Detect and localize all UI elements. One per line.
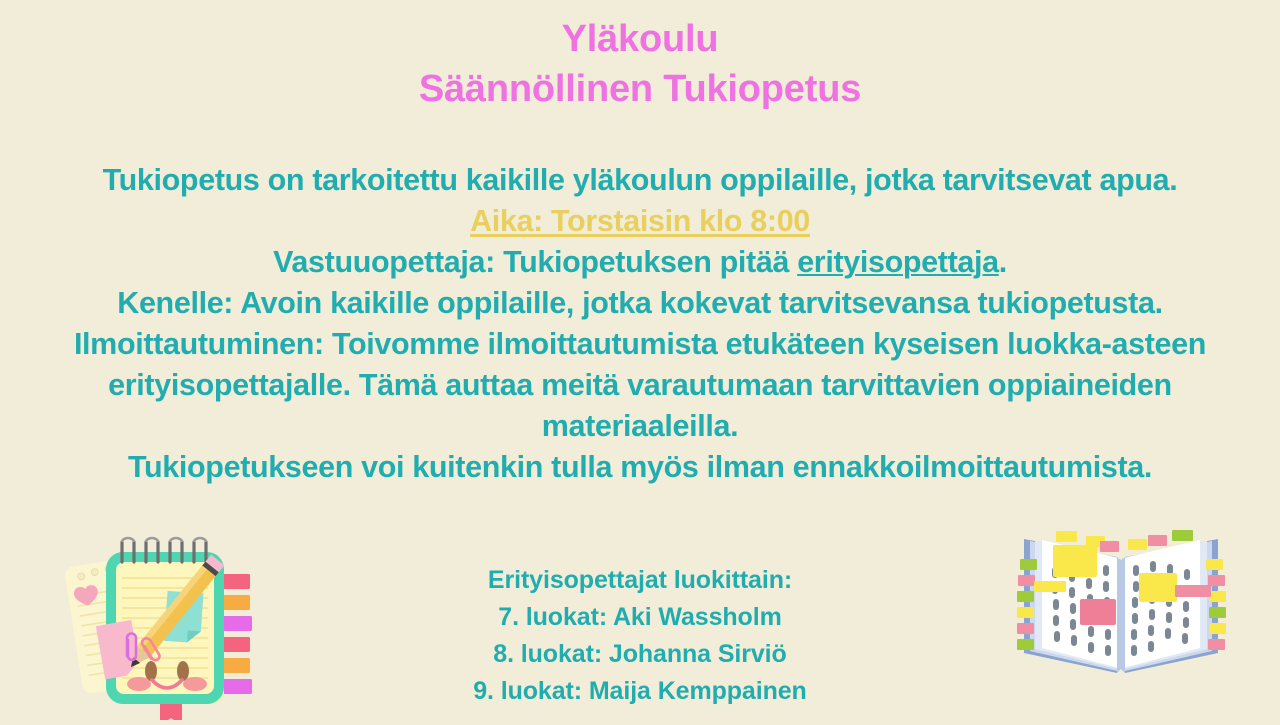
title-line-2: Säännöllinen Tukiopetus (0, 64, 1280, 114)
slide-body: Tukiopetus on tarkoitettu kaikille yläko… (0, 160, 1280, 488)
notebook-pencil-icon (62, 528, 274, 720)
slide-title: Yläkoulu Säännöllinen Tukiopetus (0, 14, 1280, 114)
body-intro-line: Tukiopetus on tarkoitettu kaikille yläko… (0, 160, 1280, 201)
slide-canvas: Yläkoulu Säännöllinen Tukiopetus Tukiope… (0, 0, 1280, 720)
body-audience-line: Kenelle: Avoin kaikille oppilaille, jotk… (0, 283, 1280, 324)
body-walkin-line: Tukiopetukseen voi kuitenkin tulla myös … (0, 447, 1280, 488)
title-line-1: Yläkoulu (0, 14, 1280, 64)
time-highlight-text: Aika: Torstaisin klo 8:00 (470, 204, 810, 238)
responsible-suffix-text: . (999, 245, 1007, 279)
open-book-icon (1012, 527, 1230, 687)
responsible-prefix-text: Vastuuopettaja: Tukiopetuksen pitää (273, 245, 797, 279)
body-registration-line: Ilmoittautuminen: Toivomme ilmoittautumi… (0, 324, 1280, 447)
body-responsible-line: Vastuuopettaja: Tukiopetuksen pitää erit… (0, 242, 1280, 283)
responsible-underlined-text: erityisopettaja (797, 245, 999, 279)
body-time-line: Aika: Torstaisin klo 8:00 (0, 201, 1280, 242)
